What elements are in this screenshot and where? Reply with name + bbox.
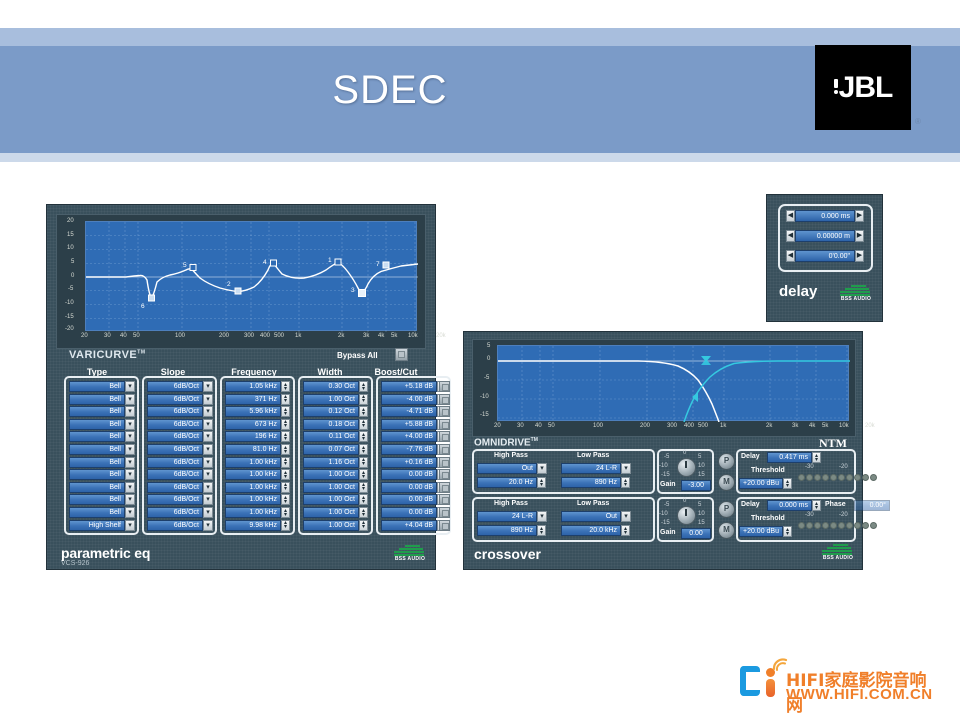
bss-audio-label-delay: BSS AUDIO: [837, 296, 875, 302]
band1-knob-tick-15: 15: [698, 472, 705, 478]
band1-meter-scale-m20: -20: [839, 464, 848, 470]
omnidrive-brand: OMNIDRIVETM: [474, 437, 538, 448]
band1-polarity-button[interactable]: P: [718, 453, 735, 470]
band2-high-pass-label: High Pass: [494, 500, 528, 507]
xover-xtick-100: 100: [593, 423, 603, 429]
eq-xtick-20: 20: [81, 333, 88, 339]
eq-row-8-type[interactable]: Bell: [69, 469, 125, 480]
eq-row-10-frequency-stepper[interactable]: ▴▾: [281, 494, 290, 505]
eq-row-10-type-dropdown[interactable]: ▾: [125, 494, 135, 505]
xover-xtick-3k: 3k: [792, 423, 798, 429]
xover-response-graph[interactable]: 20 30 40 50 100 200 300 400 500 1k 2k 3k…: [497, 345, 849, 421]
header-band-bottom: [0, 153, 960, 162]
jbl-logo-text: JBL: [815, 45, 911, 130]
band2-gain-label: Gain: [660, 529, 676, 536]
watermark-c-icon: [740, 666, 760, 696]
eq-row-11-type-dropdown[interactable]: ▾: [125, 507, 135, 518]
eq-row-12-boost-cut[interactable]: +4.04 dB: [381, 520, 437, 531]
eq-row-7-width-stepper[interactable]: ▴▾: [359, 457, 368, 468]
eq-row-12-type[interactable]: High Shelf: [69, 520, 125, 531]
eq-row-6-slope[interactable]: 6dB/Oct: [147, 444, 203, 455]
xover-ytick-0: 0: [487, 356, 490, 362]
eq-row-8-width[interactable]: 1.00 Oct: [303, 469, 359, 480]
band2-low-pass-type[interactable]: Out: [561, 511, 621, 522]
band2-high-pass-freq[interactable]: 890 Hz: [477, 525, 537, 536]
eq-row-7-type-dropdown[interactable]: ▾: [125, 457, 135, 468]
phase-value[interactable]: 0.00°: [854, 500, 890, 511]
eq-row-2-type-dropdown[interactable]: ▾: [125, 394, 135, 405]
eq-row-9-frequency-stepper[interactable]: ▴▾: [281, 482, 290, 493]
eq-row-11-frequency-stepper[interactable]: ▴▾: [281, 507, 290, 518]
eq-ytick-5: 5: [71, 259, 74, 265]
xover-xtick-4k: 4k: [809, 423, 815, 429]
band2-low-pass-type-dropdown[interactable]: ▾: [621, 511, 631, 522]
xover-xtick-20k: 20k: [865, 423, 875, 429]
eq-row-9-type-dropdown[interactable]: ▾: [125, 482, 135, 493]
band1-delay-value[interactable]: 0.417 ms: [767, 452, 812, 463]
band2-knob-tick-m5: -5: [664, 502, 669, 508]
eq-row-11-boost-cut[interactable]: 0.00 dB: [381, 507, 437, 518]
xover-ytick-m10: -10: [480, 394, 489, 400]
eq-xtick-200: 200: [219, 333, 229, 339]
eq-row-6-bypass-checkbox[interactable]: [439, 444, 450, 455]
eq-row-1-frequency[interactable]: 1.05 kHz: [225, 381, 281, 392]
device-name-parametric-eq: parametric eq: [61, 545, 150, 561]
band1-gain-value[interactable]: -3.00: [681, 480, 711, 491]
eq-row-4-frequency[interactable]: 673 Hz: [225, 419, 281, 430]
eq-row-12-width[interactable]: 1.00 Oct: [303, 520, 359, 531]
xover-xtick-2k: 2k: [766, 423, 772, 429]
crossover-device: 20 30 40 50 100 200 300 400 500 1k 2k 3k…: [463, 331, 863, 570]
varicurve-brand: VARICURVETM: [69, 349, 146, 361]
eq-row-9-boost-cut[interactable]: 0.00 dB: [381, 482, 437, 493]
eq-row-12-frequency[interactable]: 9.98 kHz: [225, 520, 281, 531]
eq-row-7-slope-dropdown[interactable]: ▾: [203, 457, 213, 468]
eq-row-11-bypass-checkbox[interactable]: [439, 507, 450, 518]
eq-row-5-width-stepper[interactable]: ▴▾: [359, 431, 368, 442]
eq-row-5-slope[interactable]: 6dB/Oct: [147, 431, 203, 442]
eq-row-10-frequency[interactable]: 1.00 kHz: [225, 494, 281, 505]
eq-row-10-width-stepper[interactable]: ▴▾: [359, 494, 368, 505]
eq-row-11-slope[interactable]: 6dB/Oct: [147, 507, 203, 518]
eq-xtick-2k: 2k: [338, 333, 344, 339]
band2-high-pass-freq-stepper[interactable]: ▴▾: [537, 525, 546, 536]
eq-row-4-slope-dropdown[interactable]: ▾: [203, 419, 213, 430]
svg-text:5: 5: [183, 262, 187, 269]
eq-row-2-frequency-stepper[interactable]: ▴▾: [281, 394, 290, 405]
band1-knob-tick-m15: -15: [661, 472, 670, 478]
bypass-all-label: Bypass All: [337, 351, 378, 360]
eq-row-1-type[interactable]: Bell: [69, 381, 125, 392]
eq-row-1-type-dropdown[interactable]: ▾: [125, 381, 135, 392]
eq-ytick-15: 15: [67, 232, 74, 238]
eq-row-9-slope[interactable]: 6dB/Oct: [147, 482, 203, 493]
band2-low-pass-freq[interactable]: 20.0 kHz: [561, 525, 621, 536]
band2-polarity-button[interactable]: P: [718, 501, 735, 518]
eq-row-5-bypass-checkbox[interactable]: [439, 431, 450, 442]
xover-xtick-10k: 10k: [839, 423, 849, 429]
band1-low-pass-type[interactable]: 24 L-R: [561, 463, 621, 474]
eq-row-3-bypass-checkbox[interactable]: [439, 406, 450, 417]
band1-high-pass-freq-stepper[interactable]: ▴▾: [537, 477, 546, 488]
delay-meters-decrement-button[interactable]: ◀: [786, 230, 795, 242]
eq-row-8-boost-cut[interactable]: 0.00 dB: [381, 469, 437, 480]
eq-row-4-type[interactable]: Bell: [69, 419, 125, 430]
eq-row-8-bypass-checkbox[interactable]: [439, 469, 450, 480]
band1-delay-stepper[interactable]: ▴▾: [812, 452, 821, 463]
eq-ytick-m20: -20: [65, 326, 74, 332]
eq-row-3-width-stepper[interactable]: ▴▾: [359, 406, 368, 417]
band2-threshold-value[interactable]: +20.00 dBu: [739, 526, 783, 537]
eq-row-3-frequency[interactable]: 5.96 kHz: [225, 406, 281, 417]
jbl-logo: JBL: [815, 45, 911, 130]
eq-row-1-width[interactable]: 0.30 Oct: [303, 381, 359, 392]
eq-row-9-slope-dropdown[interactable]: ▾: [203, 482, 213, 493]
registered-mark: ®: [915, 117, 921, 126]
eq-row-2-width-stepper[interactable]: ▴▾: [359, 394, 368, 405]
band1-high-pass-label: High Pass: [494, 452, 528, 459]
xover-xtick-5k: 5k: [822, 423, 828, 429]
eq-row-11-type[interactable]: Bell: [69, 507, 125, 518]
eq-row-4-frequency-stepper[interactable]: ▴▾: [281, 419, 290, 430]
eq-row-7-slope[interactable]: 6dB/Oct: [147, 457, 203, 468]
eq-ytick-10: 10: [67, 245, 74, 251]
eq-row-6-type-dropdown[interactable]: ▾: [125, 444, 135, 455]
eq-row-6-frequency-stepper[interactable]: ▴▾: [281, 444, 290, 455]
eq-ytick-20: 20: [67, 218, 74, 224]
eq-row-9-type[interactable]: Bell: [69, 482, 125, 493]
slide-header: SDEC JBL ®: [0, 0, 960, 162]
bss-audio-logo-xover: BSS AUDIO: [819, 544, 857, 562]
delay-feet-increment-button[interactable]: ▶: [855, 250, 864, 262]
eq-row-2-slope[interactable]: 6dB/Oct: [147, 394, 203, 405]
band1-gain-label: Gain: [660, 481, 676, 488]
band1-knob-tick-m10: -10: [659, 463, 668, 469]
eq-row-3-width[interactable]: 0.12 Oct: [303, 406, 359, 417]
eq-xtick-400: 400: [260, 333, 270, 339]
eq-row-10-slope-dropdown[interactable]: ▾: [203, 494, 213, 505]
xover-ytick-m15: -15: [480, 412, 489, 418]
eq-row-9-frequency[interactable]: 1.00 kHz: [225, 482, 281, 493]
jbl-logo-letters: JBL: [839, 71, 893, 105]
band2-knob-tick-m10: -10: [659, 511, 668, 517]
xover-xtick-50: 50: [548, 423, 555, 429]
eq-xtick-300: 300: [244, 333, 254, 339]
delay-ms-field[interactable]: 0.000 ms: [795, 210, 855, 222]
eq-row-2-width[interactable]: 1.00 Oct: [303, 394, 359, 405]
eq-row-12-bypass-checkbox[interactable]: [439, 520, 450, 531]
eq-xtick-4k: 4k: [378, 333, 384, 339]
eq-row-10-type[interactable]: Bell: [69, 494, 125, 505]
eq-row-9-width-stepper[interactable]: ▴▾: [359, 482, 368, 493]
band1-delay-label: Delay: [741, 453, 760, 460]
site-watermark: HIFI家庭影院音响网 WWW.HIFI.COM.CN: [738, 658, 938, 710]
page-title: SDEC: [0, 68, 780, 113]
band2-threshold-label: Threshold: [751, 515, 785, 522]
band2-knob-tick-m15: -15: [661, 520, 670, 526]
eq-row-7-frequency-stepper[interactable]: ▴▾: [281, 457, 290, 468]
device-model-vcs926: VCS-926: [61, 560, 89, 567]
band1-knob-tick-5: 5: [698, 454, 701, 460]
xover-xtick-20: 20: [494, 423, 501, 429]
bss-audio-label-xover: BSS AUDIO: [819, 555, 857, 561]
eq-row-11-frequency[interactable]: 1.00 kHz: [225, 507, 281, 518]
delay-ms-decrement-button[interactable]: ◀: [786, 210, 795, 222]
eq-row-12-width-stepper[interactable]: ▴▾: [359, 520, 368, 531]
svg-text:7: 7: [376, 261, 380, 268]
band1-high-pass-type-dropdown[interactable]: ▾: [537, 463, 547, 474]
delay-device: ◀ 0.000 ms ▶ ◀ 0.00000 m ▶ ◀ 0'0.00" ▶ d…: [766, 194, 883, 322]
eq-row-8-type-dropdown[interactable]: ▾: [125, 469, 135, 480]
eq-row-7-frequency[interactable]: 1.00 kHz: [225, 457, 281, 468]
eq-row-12-slope-dropdown[interactable]: ▾: [203, 520, 213, 531]
eq-row-4-width[interactable]: 0.18 Oct: [303, 419, 359, 430]
delay-feet-decrement-button[interactable]: ◀: [786, 250, 795, 262]
eq-row-3-slope-dropdown[interactable]: ▾: [203, 406, 213, 417]
band1-threshold-label: Threshold: [751, 467, 785, 474]
band2-delay-value[interactable]: 0.000 ms: [767, 500, 812, 511]
eq-row-6-width-stepper[interactable]: ▴▾: [359, 444, 368, 455]
eq-row-6-frequency[interactable]: 81.0 Hz: [225, 444, 281, 455]
bss-audio-logo-eq: BSS AUDIO: [391, 545, 429, 563]
band1-threshold-stepper[interactable]: ▴▾: [783, 478, 792, 489]
eq-row-1-boost-cut[interactable]: +5.18 dB: [381, 381, 437, 392]
band2-low-pass-label: Low Pass: [577, 500, 609, 507]
svg-text:6: 6: [141, 303, 145, 310]
eq-row-11-width[interactable]: 1.00 Oct: [303, 507, 359, 518]
svg-text:3: 3: [351, 287, 355, 294]
band2-knob-tick-5: 5: [698, 502, 701, 508]
eq-row-5-type[interactable]: Bell: [69, 431, 125, 442]
eq-row-4-width-stepper[interactable]: ▴▾: [359, 419, 368, 430]
eq-response-curve: 6 5 2 4 1 3 7: [86, 222, 418, 332]
eq-ytick-0: 0: [71, 273, 74, 279]
band2-meter-scale-m20: -20: [839, 512, 848, 518]
eq-row-12-frequency-stepper[interactable]: ▴▾: [281, 520, 290, 531]
eq-row-7-bypass-checkbox[interactable]: [439, 457, 450, 468]
svg-text:2: 2: [227, 281, 231, 288]
svg-text:1: 1: [328, 257, 332, 264]
band1-level-meter: [798, 474, 877, 481]
eq-xtick-500: 500: [274, 333, 284, 339]
eq-xtick-30: 30: [104, 333, 111, 339]
eq-row-7-boost-cut[interactable]: +0.16 dB: [381, 457, 437, 468]
xover-xtick-300: 300: [667, 423, 677, 429]
eq-row-8-frequency[interactable]: 1.00 kHz: [225, 469, 281, 480]
eq-row-10-bypass-checkbox[interactable]: [439, 494, 450, 505]
xover-graph-frame: 20 30 40 50 100 200 300 400 500 1k 2k 3k…: [472, 339, 856, 437]
delay-ms-increment-button[interactable]: ▶: [855, 210, 864, 222]
header-band-pale: [0, 28, 960, 46]
eq-row-2-slope-dropdown[interactable]: ▾: [203, 394, 213, 405]
xover-response-curves: [498, 346, 850, 422]
bss-audio-label-eq: BSS AUDIO: [391, 556, 429, 562]
eq-row-5-type-dropdown[interactable]: ▾: [125, 431, 135, 442]
band1-low-pass-freq-stepper[interactable]: ▴▾: [621, 477, 630, 488]
eq-row-3-boost-cut[interactable]: -4.71 dB: [381, 406, 437, 417]
eq-row-4-bypass-checkbox[interactable]: [439, 419, 450, 430]
varicurve-tm: TM: [137, 349, 145, 355]
band2-gain-value[interactable]: 0.00: [681, 528, 711, 539]
eq-ytick-m10: -10: [65, 300, 74, 306]
delay-meters-field[interactable]: 0.00000 m: [795, 230, 855, 242]
eq-ytick-m15: -15: [65, 314, 74, 320]
eq-row-2-boost-cut[interactable]: -4.00 dB: [381, 394, 437, 405]
band2-level-meter: [798, 522, 877, 529]
eq-xtick-1k: 1k: [295, 333, 301, 339]
eq-row-9-bypass-checkbox[interactable]: [439, 482, 450, 493]
band1-meter-scale-m30: -30: [805, 464, 814, 470]
eq-xtick-10k: 10k: [408, 333, 418, 339]
omnidrive-tm: TM: [531, 437, 538, 443]
band2-meter-scale-m30: -30: [805, 512, 814, 518]
band2-knob-tick-0: 0: [683, 498, 686, 504]
device-name-crossover: crossover: [474, 546, 541, 562]
eq-row-10-boost-cut[interactable]: 0.00 dB: [381, 494, 437, 505]
delay-meters-increment-button[interactable]: ▶: [855, 230, 864, 242]
eq-row-1-frequency-stepper[interactable]: ▴▾: [281, 381, 290, 392]
eq-response-graph[interactable]: 6 5 2 4 1 3 7 20 30 40 50 100 200 300 40…: [85, 221, 417, 331]
xover-xtick-40: 40: [535, 423, 542, 429]
eq-row-1-width-stepper[interactable]: ▴▾: [359, 381, 368, 392]
eq-row-5-boost-cut[interactable]: +4.00 dB: [381, 431, 437, 442]
eq-row-4-type-dropdown[interactable]: ▾: [125, 419, 135, 430]
eq-row-5-width[interactable]: 0.11 Oct: [303, 431, 359, 442]
band2-delay-label: Delay: [741, 501, 760, 508]
device-name-delay: delay: [779, 283, 817, 300]
eq-row-10-slope[interactable]: 6dB/Oct: [147, 494, 203, 505]
xover-xtick-30: 30: [517, 423, 524, 429]
xover-xtick-500: 500: [698, 423, 708, 429]
eq-row-6-boost-cut[interactable]: -7.76 dB: [381, 444, 437, 455]
band1-knob-tick-0: 0: [683, 450, 686, 456]
phase-label: Phase: [825, 501, 846, 508]
eq-row-3-frequency-stepper[interactable]: ▴▾: [281, 406, 290, 417]
band1-high-pass-freq[interactable]: 20.0 Hz: [477, 477, 537, 488]
xover-ytick-m5: -5: [484, 375, 489, 381]
eq-row-2-frequency[interactable]: 371 Hz: [225, 394, 281, 405]
eq-row-8-slope[interactable]: 6dB/Oct: [147, 469, 203, 480]
band2-knob-tick-15: 15: [698, 520, 705, 526]
band2-mute-button[interactable]: M: [718, 522, 735, 539]
xover-xtick-400: 400: [684, 423, 694, 429]
eq-row-6-width[interactable]: 0.07 Oct: [303, 444, 359, 455]
eq-row-7-width[interactable]: 1.16 Oct: [303, 457, 359, 468]
eq-row-1-bypass-checkbox[interactable]: [439, 381, 450, 392]
eq-row-1-slope-dropdown[interactable]: ▾: [203, 381, 213, 392]
band1-mute-button[interactable]: M: [718, 474, 735, 491]
eq-xtick-40: 40: [120, 333, 127, 339]
header-band-white: [0, 0, 960, 28]
svg-text:4: 4: [263, 259, 267, 266]
xover-xtick-1k: 1k: [720, 423, 726, 429]
eq-row-6-type[interactable]: Bell: [69, 444, 125, 455]
band1-knob-tick-m5: -5: [664, 454, 669, 460]
eq-row-7-type[interactable]: Bell: [69, 457, 125, 468]
xover-ytick-5: 5: [487, 343, 490, 349]
band2-knob-tick-10: 10: [698, 511, 705, 517]
watermark-i-bar-icon: [766, 679, 775, 697]
eq-row-11-width-stepper[interactable]: ▴▾: [359, 507, 368, 518]
eq-row-11-slope-dropdown[interactable]: ▾: [203, 507, 213, 518]
band1-high-pass-type[interactable]: Out: [477, 463, 537, 474]
eq-row-3-slope[interactable]: 6dB/Oct: [147, 406, 203, 417]
eq-row-6-slope-dropdown[interactable]: ▾: [203, 444, 213, 455]
eq-row-4-slope[interactable]: 6dB/Oct: [147, 419, 203, 430]
eq-row-5-frequency[interactable]: 196 Hz: [225, 431, 281, 442]
band2-high-pass-type-dropdown[interactable]: ▾: [537, 511, 547, 522]
band1-low-pass-label: Low Pass: [577, 452, 609, 459]
band2-high-pass-type[interactable]: 24 L-R: [477, 511, 537, 522]
eq-row-2-type[interactable]: Bell: [69, 394, 125, 405]
eq-row-4-boost-cut[interactable]: +5.88 dB: [381, 419, 437, 430]
eq-row-8-slope-dropdown[interactable]: ▾: [203, 469, 213, 480]
delay-feet-field[interactable]: 0'0.00": [795, 250, 855, 262]
xover-xtick-200: 200: [640, 423, 650, 429]
band2-threshold-stepper[interactable]: ▴▾: [783, 526, 792, 537]
eq-row-1-slope[interactable]: 6dB/Oct: [147, 381, 203, 392]
bss-audio-logo-delay: BSS AUDIO: [837, 285, 875, 303]
band1-threshold-value[interactable]: +20.00 dBu: [739, 478, 783, 489]
eq-row-12-slope[interactable]: 6dB/Oct: [147, 520, 203, 531]
eq-row-2-bypass-checkbox[interactable]: [439, 394, 450, 405]
jbl-exclamation-icon: [834, 79, 838, 94]
eq-row-3-type-dropdown[interactable]: ▾: [125, 406, 135, 417]
eq-graph-frame: 6 5 2 4 1 3 7 20 30 40 50 100 200 300 40…: [56, 214, 426, 349]
eq-row-5-frequency-stepper[interactable]: ▴▾: [281, 431, 290, 442]
eq-row-8-frequency-stepper[interactable]: ▴▾: [281, 469, 290, 480]
eq-xtick-5k: 5k: [391, 333, 397, 339]
eq-row-5-slope-dropdown[interactable]: ▾: [203, 431, 213, 442]
eq-row-9-width[interactable]: 1.00 Oct: [303, 482, 359, 493]
eq-row-12-type-dropdown[interactable]: ▾: [125, 520, 135, 531]
band2-low-pass-freq-stepper[interactable]: ▴▾: [621, 525, 630, 536]
watermark-line2: WWW.HIFI.COM.CN: [786, 686, 933, 703]
band1-gain-knob[interactable]: [677, 458, 696, 477]
parametric-eq-device: 6 5 2 4 1 3 7 20 30 40 50 100 200 300 40…: [46, 204, 436, 570]
band1-knob-tick-10: 10: [698, 463, 705, 469]
eq-row-3-type[interactable]: Bell: [69, 406, 125, 417]
band1-low-pass-type-dropdown[interactable]: ▾: [621, 463, 631, 474]
band2-gain-knob[interactable]: [677, 506, 696, 525]
eq-xtick-3k: 3k: [363, 333, 369, 339]
band1-low-pass-freq[interactable]: 890 Hz: [561, 477, 621, 488]
band2-delay-stepper[interactable]: ▴▾: [812, 500, 821, 511]
eq-ytick-m5: -5: [68, 286, 73, 292]
eq-row-10-width[interactable]: 1.00 Oct: [303, 494, 359, 505]
eq-xtick-50: 50: [133, 333, 140, 339]
eq-xtick-20k: 20k: [436, 333, 446, 339]
eq-row-8-width-stepper[interactable]: ▴▾: [359, 469, 368, 480]
bypass-all-checkbox[interactable]: [395, 348, 408, 361]
eq-xtick-100: 100: [175, 333, 185, 339]
